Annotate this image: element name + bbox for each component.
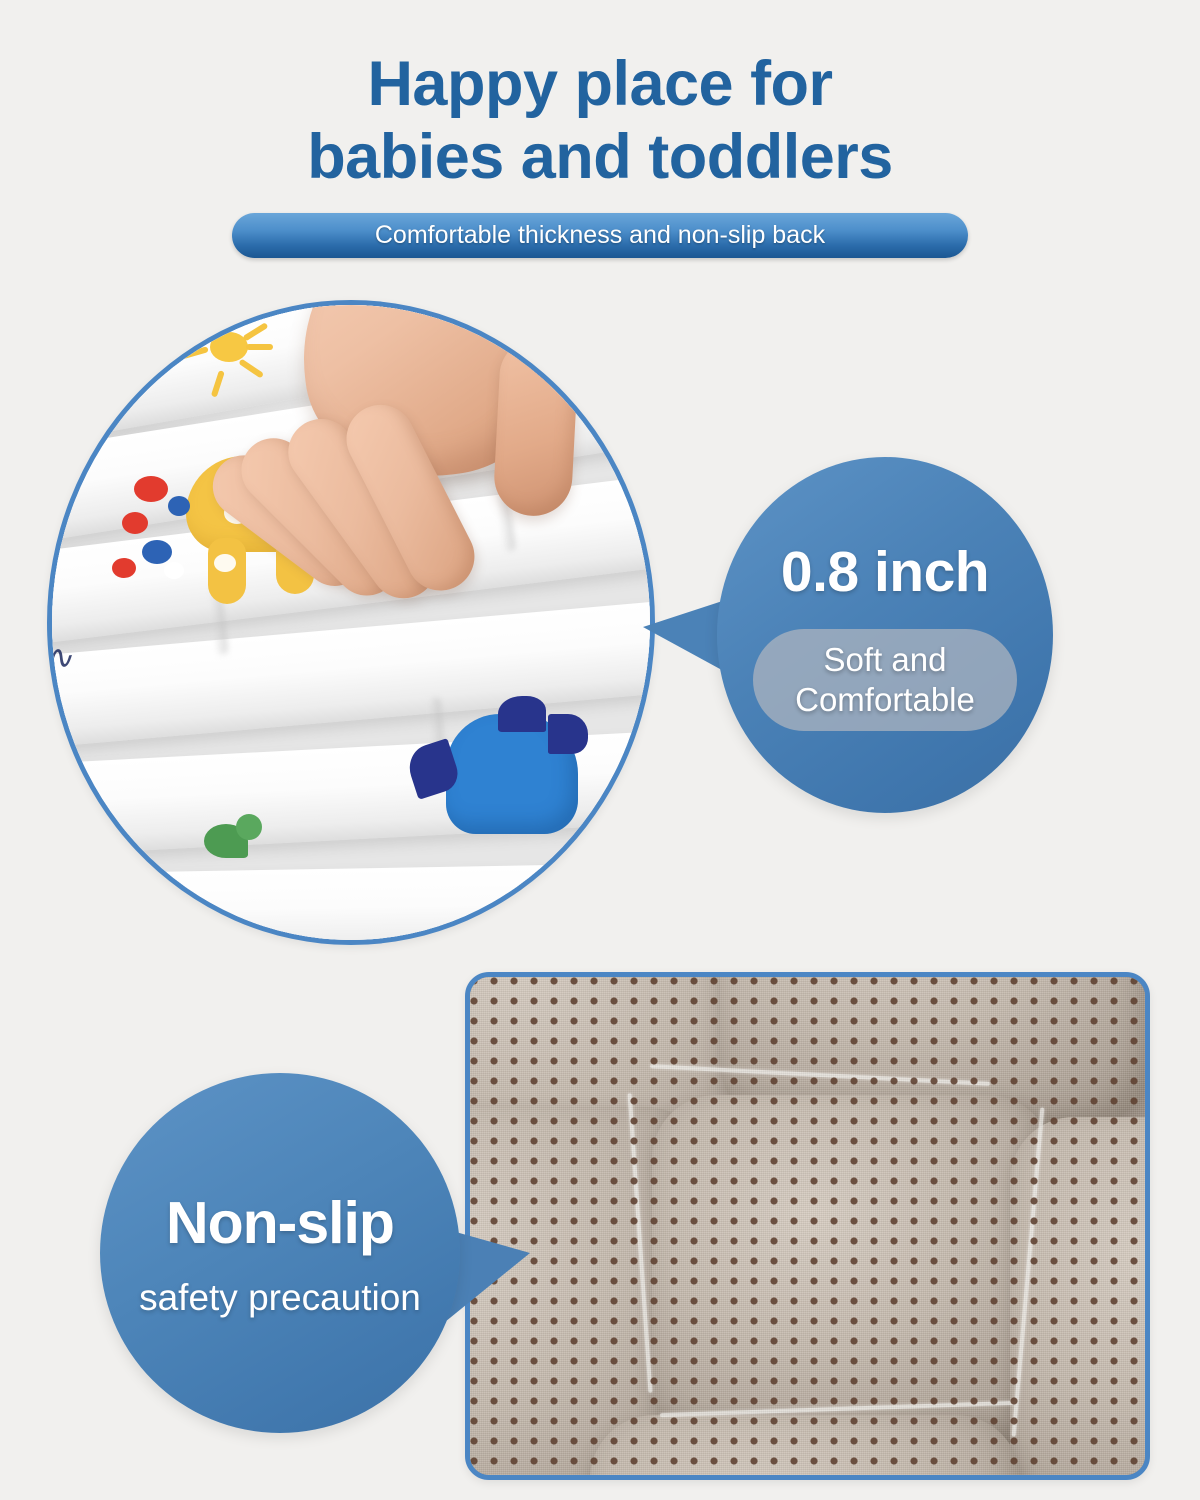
quilt-tube bbox=[47, 860, 655, 945]
nonslip-dots-texture bbox=[470, 977, 1145, 1475]
page-title: Happy place for babies and toddlers bbox=[0, 0, 1200, 194]
subtitle-banner-label: Comfortable thickness and non-slip back bbox=[375, 221, 825, 250]
mattress-fabric: ∿∿ ∿x bbox=[47, 300, 655, 945]
thickness-subtitle-line-1: Soft and bbox=[824, 640, 947, 680]
thickness-subtitle-line-2: Comfortable bbox=[795, 680, 975, 720]
nonslip-fabric bbox=[470, 977, 1145, 1475]
nonslip-callout-bubble: Non-slip safety precaution bbox=[100, 1073, 460, 1433]
red-blue-print-icon bbox=[112, 466, 210, 596]
header: Happy place for babies and toddlers bbox=[0, 0, 1200, 194]
headline-line-1: Happy place for bbox=[0, 48, 1200, 121]
nonslip-subtitle: safety precaution bbox=[100, 1277, 460, 1319]
thickness-subtitle-pill: Soft and Comfortable bbox=[753, 629, 1017, 731]
nonslip-title: Non-slip bbox=[100, 1189, 460, 1257]
nonslip-photo bbox=[465, 972, 1150, 1480]
thickness-photo: ∿∿ ∿x bbox=[47, 300, 655, 945]
thickness-value: 0.8 inch bbox=[717, 539, 1053, 605]
hand-pressing bbox=[215, 300, 595, 679]
green-print-icon bbox=[200, 814, 276, 872]
headline-line-2: babies and toddlers bbox=[0, 121, 1200, 194]
thickness-callout-bubble: 0.8 inch Soft and Comfortable bbox=[717, 457, 1053, 813]
subtitle-banner: Comfortable thickness and non-slip back bbox=[232, 213, 968, 258]
blue-dinosaur-print-icon bbox=[402, 692, 592, 852]
